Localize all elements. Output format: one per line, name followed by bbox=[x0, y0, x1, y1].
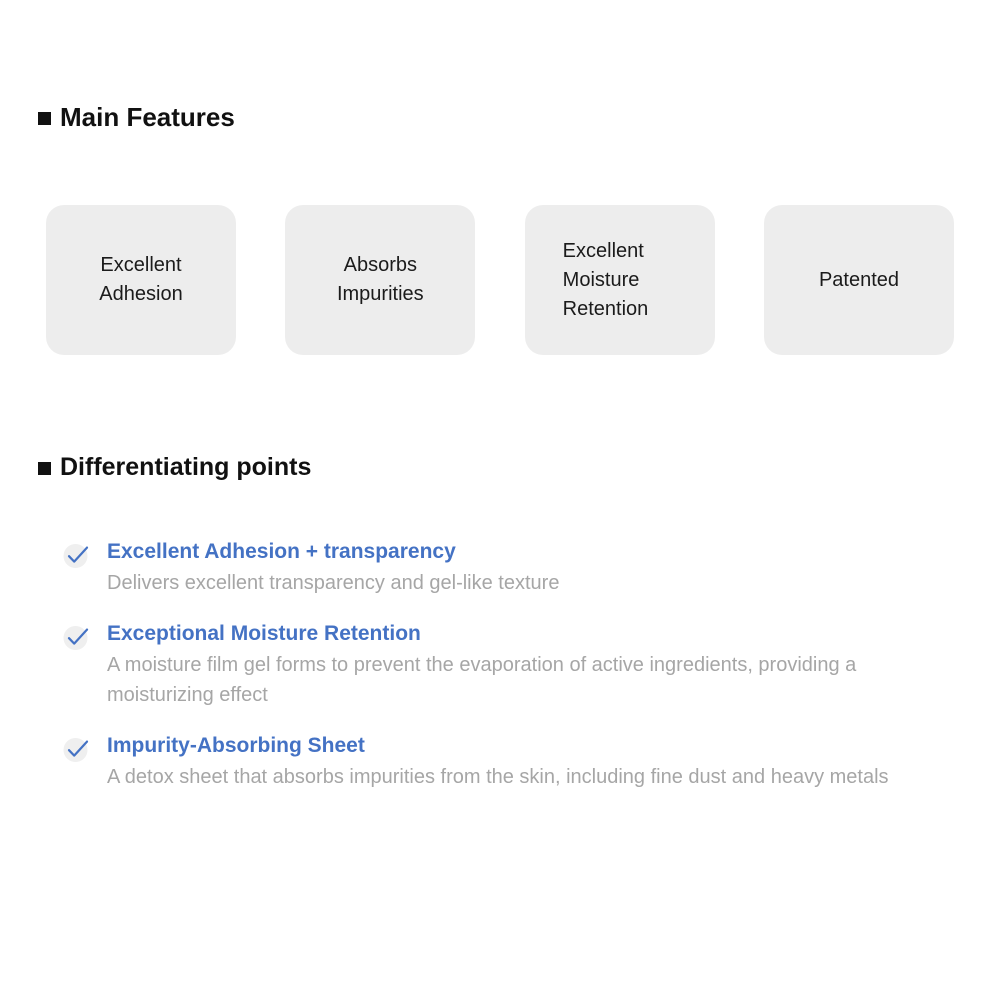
list-item-title: Exceptional Moisture Retention bbox=[107, 620, 982, 648]
list-item: Exceptional Moisture Retention A moistur… bbox=[62, 620, 982, 710]
check-circle-icon bbox=[62, 734, 92, 764]
feature-card-label: Excellent Adhesion bbox=[89, 251, 192, 309]
list-item: Impurity-Absorbing Sheet A detox sheet t… bbox=[62, 732, 982, 792]
list-item-title: Excellent Adhesion + transparency bbox=[107, 538, 982, 566]
list-item-text: Exceptional Moisture Retention A moistur… bbox=[62, 620, 982, 710]
slide-canvas: Main Features Excellent Adhesion Absorbs… bbox=[0, 0, 1000, 1000]
feature-card-label: Excellent Moisture Retention bbox=[525, 237, 659, 324]
section-heading-main-features-label: Main Features bbox=[60, 102, 235, 133]
filled-square-bullet-icon bbox=[38, 112, 51, 125]
list-item: Excellent Adhesion + transparency Delive… bbox=[62, 538, 982, 598]
list-item-description: A moisture film gel forms to prevent the… bbox=[107, 650, 967, 710]
feature-card-patented[interactable]: Patented bbox=[764, 205, 954, 355]
differentiating-points-list: Excellent Adhesion + transparency Delive… bbox=[62, 538, 982, 792]
list-item-text: Excellent Adhesion + transparency Delive… bbox=[62, 538, 982, 598]
check-circle-icon bbox=[62, 540, 92, 570]
feature-card-label: Absorbs Impurities bbox=[327, 251, 434, 309]
section-heading-main-features: Main Features bbox=[38, 102, 235, 133]
check-circle-icon bbox=[62, 622, 92, 652]
list-item-description: A detox sheet that absorbs impurities fr… bbox=[107, 762, 967, 792]
filled-square-bullet-icon bbox=[38, 462, 51, 475]
section-heading-differentiating-points: Differentiating points bbox=[38, 453, 311, 482]
feature-card-excellent-adhesion[interactable]: Excellent Adhesion bbox=[46, 205, 236, 355]
list-item-title: Impurity-Absorbing Sheet bbox=[107, 732, 982, 760]
feature-card-label: Patented bbox=[809, 266, 909, 295]
feature-card-absorbs-impurities[interactable]: Absorbs Impurities bbox=[285, 205, 475, 355]
feature-card-excellent-moisture-retention[interactable]: Excellent Moisture Retention bbox=[525, 205, 715, 355]
list-item-description: Delivers excellent transparency and gel-… bbox=[107, 568, 967, 598]
section-heading-differentiating-points-label: Differentiating points bbox=[60, 453, 311, 482]
list-item-text: Impurity-Absorbing Sheet A detox sheet t… bbox=[62, 732, 982, 792]
feature-cards-row: Excellent Adhesion Absorbs Impurities Ex… bbox=[46, 205, 954, 355]
